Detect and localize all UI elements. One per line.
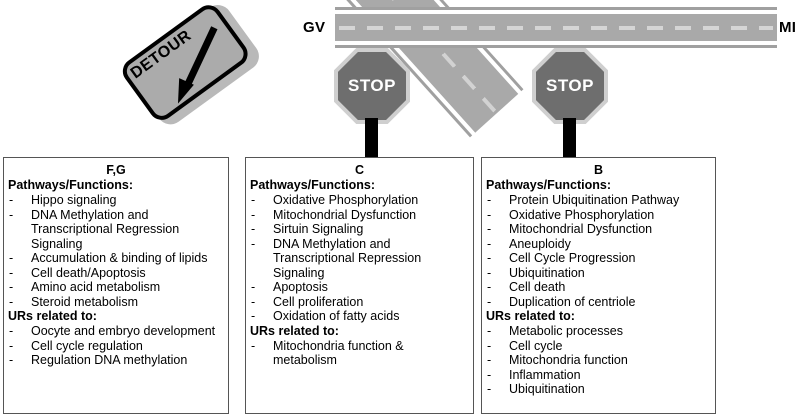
bullet-dash: - (251, 222, 255, 237)
bullet-dash: - (9, 208, 13, 223)
bullet-dash: - (9, 339, 13, 354)
bullet-dash: - (487, 266, 491, 281)
gv-stage-label: GV (303, 19, 325, 36)
info-box-fg: F,G Pathways/Functions: -Hippo signaling… (3, 157, 229, 414)
list-item-label: Cell proliferation (273, 295, 363, 309)
list-item-label: Mitochondria function & metabolism (273, 339, 404, 368)
bullet-dash: - (251, 309, 255, 324)
list-item-label: Duplication of centriole (509, 295, 635, 309)
list-item-label: Steroid metabolism (31, 295, 138, 309)
list-item-label: Cell death/Apoptosis (31, 266, 146, 280)
list-item-label: Metabolic processes (509, 324, 623, 338)
pathways-list: -Oxidative Phosphorylation-Mitochondrial… (246, 193, 473, 324)
bullet-dash: - (9, 353, 13, 368)
list-item-label: Inflammation (509, 368, 581, 382)
list-item-label: Protein Ubiquitination Pathway (509, 193, 679, 207)
list-item-label: Aneuploidy (509, 237, 571, 251)
list-item: -Ubiquitination (482, 266, 715, 281)
list-item-label: DNA Methylation and Transcriptional Regr… (31, 208, 179, 251)
list-item-label: Amino acid metabolism (31, 280, 160, 294)
list-item-label: Cell cycle (509, 339, 563, 353)
stop-sign-label: STOP (532, 76, 608, 96)
mii-stage-label: MII (779, 19, 797, 36)
list-item: -Regulation DNA methylation (4, 353, 228, 368)
list-item-label: DNA Methylation and Transcriptional Repr… (273, 237, 421, 280)
bullet-dash: - (9, 295, 13, 310)
info-box-title: B (482, 163, 715, 177)
list-item: -Duplication of centriole (482, 295, 715, 310)
bullet-dash: - (251, 193, 255, 208)
section-heading: Pathways/Functions: (246, 178, 473, 193)
list-item-label: Sirtuin Signaling (273, 222, 363, 236)
list-item: -Metabolic processes (482, 324, 715, 339)
section-heading: URs related to: (482, 309, 715, 324)
list-item: -Cell death (482, 280, 715, 295)
bullet-dash: - (487, 251, 491, 266)
bullet-dash: - (487, 368, 491, 383)
list-item: -Cell proliferation (246, 295, 473, 310)
bullet-dash: - (487, 208, 491, 223)
list-item-label: Accumulation & binding of lipids (31, 251, 208, 265)
list-item: -Cell cycle regulation (4, 339, 228, 354)
bullet-dash: - (487, 324, 491, 339)
stop-sign-c: STOP (334, 48, 410, 124)
list-item-label: Oxidative Phosphorylation (273, 193, 418, 207)
info-box-title: F,G (4, 163, 228, 177)
pathways-list: -Protein Ubiquitination Pathway-Oxidativ… (482, 193, 715, 309)
bullet-dash: - (487, 222, 491, 237)
list-item-label: Mitochondrial Dysfunction (509, 222, 652, 236)
list-item: -Cell cycle (482, 339, 715, 354)
bullet-dash: - (487, 280, 491, 295)
info-box-c: C Pathways/Functions: -Oxidative Phospho… (245, 157, 474, 414)
list-item: -Cell death/Apoptosis (4, 266, 228, 281)
bullet-dash: - (9, 251, 13, 266)
list-item: -Oxidation of fatty acids (246, 309, 473, 324)
list-item-label: Mitochondrial Dysfunction (273, 208, 416, 222)
list-item: -Oxidative Phosphorylation (246, 193, 473, 208)
info-box-b: B Pathways/Functions: -Protein Ubiquitin… (481, 157, 716, 414)
urs-list: -Oocyte and embryo development-Cell cycl… (4, 324, 228, 368)
list-item: -Oocyte and embryo development (4, 324, 228, 339)
urs-list: -Mitochondria function & metabolism (246, 339, 473, 368)
bullet-dash: - (9, 324, 13, 339)
section-heading: Pathways/Functions: (482, 178, 715, 193)
bullet-dash: - (487, 353, 491, 368)
list-item: -Amino acid metabolism (4, 280, 228, 295)
stop-sign-label: STOP (334, 76, 410, 96)
list-item: -Hippo signaling (4, 193, 228, 208)
section-heading: URs related to: (4, 309, 228, 324)
list-item: -Protein Ubiquitination Pathway (482, 193, 715, 208)
list-item: -Ubiquitination (482, 382, 715, 397)
list-item: -Cell Cycle Progression (482, 251, 715, 266)
list-item: -Oxidative Phosphorylation (482, 208, 715, 223)
bullet-dash: - (487, 382, 491, 397)
diagram-scene: GV MII DETOUR STOP STOP F,G Pathways/Fun… (0, 0, 797, 420)
main-road-center-dashes (339, 26, 773, 30)
list-item: -Mitochondrial Dysfunction (482, 222, 715, 237)
list-item-label: Oxidative Phosphorylation (509, 208, 654, 222)
list-item-label: Cell death (509, 280, 565, 294)
list-item-label: Oocyte and embryo development (31, 324, 215, 338)
list-item: -Inflammation (482, 368, 715, 383)
list-item-label: Cell Cycle Progression (509, 251, 635, 265)
bullet-dash: - (251, 280, 255, 295)
stop-sign-b: STOP (532, 48, 608, 124)
list-item: -Apoptosis (246, 280, 473, 295)
bullet-dash: - (9, 266, 13, 281)
list-item: -Accumulation & binding of lipids (4, 251, 228, 266)
bullet-dash: - (251, 295, 255, 310)
bullet-dash: - (251, 339, 255, 354)
list-item: -Mitochondria function (482, 353, 715, 368)
info-box-title: C (246, 163, 473, 177)
list-item: -DNA Methylation and Transcriptional Reg… (4, 208, 228, 252)
list-item-label: Regulation DNA methylation (31, 353, 187, 367)
list-item: -Aneuploidy (482, 237, 715, 252)
bullet-dash: - (487, 295, 491, 310)
main-road (335, 7, 777, 48)
list-item: -DNA Methylation and Transcriptional Rep… (246, 237, 473, 281)
urs-list: -Metabolic processes-Cell cycle-Mitochon… (482, 324, 715, 397)
list-item: -Mitochondrial Dysfunction (246, 208, 473, 223)
list-item: -Mitochondria function & metabolism (246, 339, 473, 368)
bullet-dash: - (9, 280, 13, 295)
pathways-list: -Hippo signaling-DNA Methylation and Tra… (4, 193, 228, 309)
list-item-label: Mitochondria function (509, 353, 628, 367)
list-item-label: Hippo signaling (31, 193, 116, 207)
bullet-dash: - (9, 193, 13, 208)
bullet-dash: - (487, 237, 491, 252)
list-item-label: Oxidation of fatty acids (273, 309, 399, 323)
section-heading: URs related to: (246, 324, 473, 339)
bullet-dash: - (251, 208, 255, 223)
list-item-label: Apoptosis (273, 280, 328, 294)
list-item-label: Ubiquitination (509, 266, 585, 280)
list-item: -Sirtuin Signaling (246, 222, 473, 237)
list-item: -Steroid metabolism (4, 295, 228, 310)
bullet-dash: - (487, 193, 491, 208)
list-item-label: Ubiquitination (509, 382, 585, 396)
list-item-label: Cell cycle regulation (31, 339, 143, 353)
bullet-dash: - (251, 237, 255, 252)
bullet-dash: - (487, 339, 491, 354)
section-heading: Pathways/Functions: (4, 178, 228, 193)
